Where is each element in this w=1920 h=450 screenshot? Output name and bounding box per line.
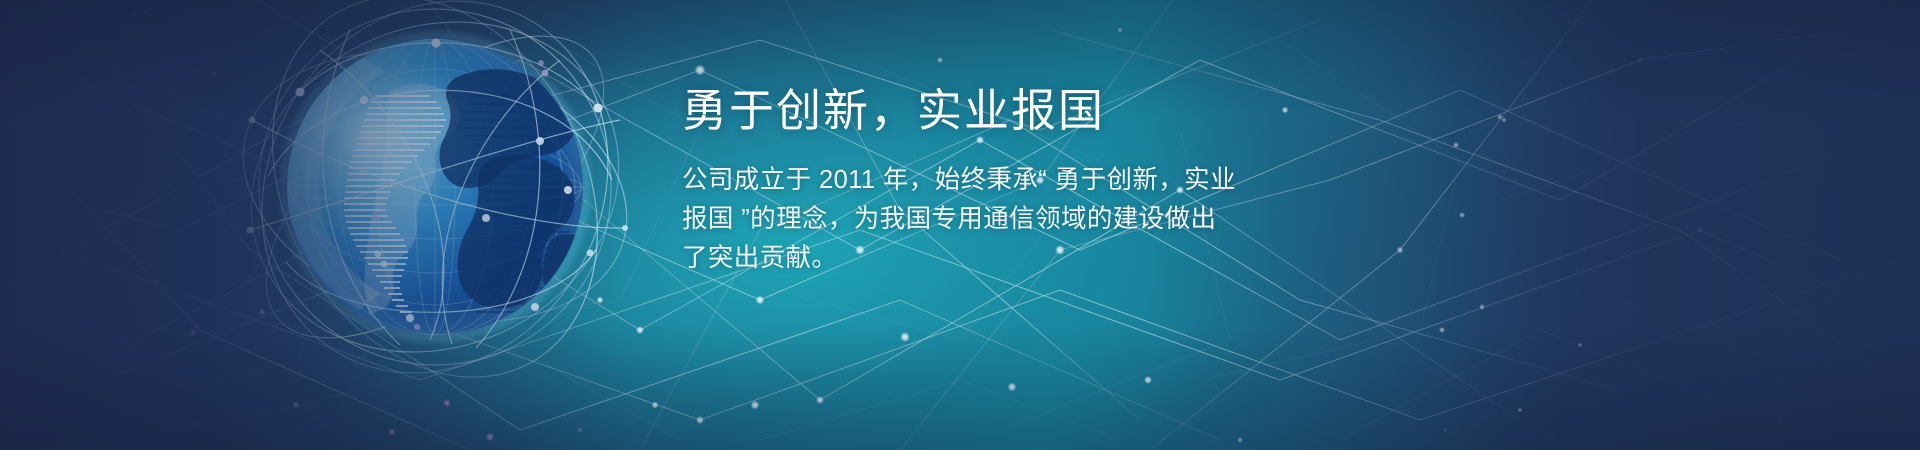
banner-description: 公司成立于 2011 年，始终秉承“ 勇于创新，实业 报国 ”的理念，为我国专用…	[682, 161, 1262, 278]
hero-banner: 勇于创新，实业报国 公司成立于 2011 年，始终秉承“ 勇于创新，实业 报国 …	[0, 0, 1920, 450]
description-line-2: 报国 ”的理念，为我国专用通信领域的建设做出	[682, 200, 1262, 239]
description-line-3: 了突出贡献。	[682, 239, 1262, 278]
description-line-1: 公司成立于 2011 年，始终秉承“ 勇于创新，实业	[682, 161, 1262, 200]
page-title: 勇于创新，实业报国	[682, 84, 1282, 137]
banner-copy: 勇于创新，实业报国 公司成立于 2011 年，始终秉承“ 勇于创新，实业 报国 …	[682, 84, 1282, 278]
